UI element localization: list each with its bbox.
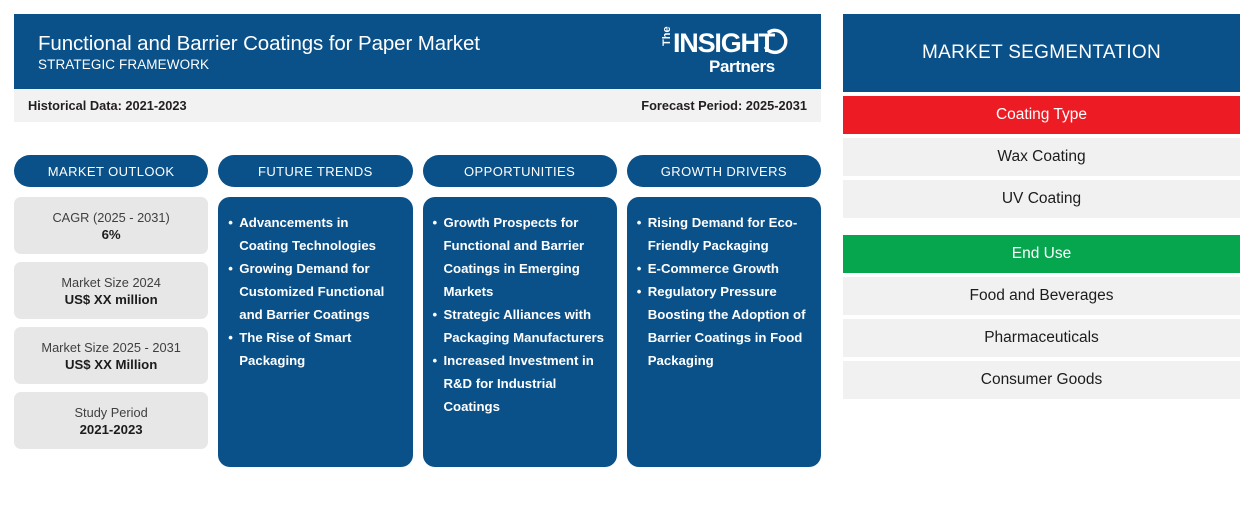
column-heading-market-outlook[interactable]: MARKET OUTLOOK <box>14 155 208 187</box>
list-item: Advancements in Coating Technologies <box>228 211 400 257</box>
bullet-list: Rising Demand for Eco-Friendly Packaging… <box>637 211 809 372</box>
column-growth-drivers: GROWTH DRIVERS Rising Demand for Eco-Fri… <box>627 155 821 485</box>
list-item: The Rise of Smart Packaging <box>228 326 400 372</box>
metric-value: 6% <box>102 227 121 242</box>
column-opportunities: OPPORTUNITIES Growth Prospects for Funct… <box>423 155 617 485</box>
segmentation-group-coating-type: Coating Type Wax Coating UV Coating <box>843 96 1240 218</box>
metric-label: CAGR (2025 - 2031) <box>52 210 169 225</box>
logo-partners-text: Partners <box>709 57 775 76</box>
infographic-canvas: Functional and Barrier Coatings for Pape… <box>0 0 1254 530</box>
list-item: E-Commerce Growth <box>637 257 809 280</box>
segmentation-title-end-use[interactable]: End Use <box>843 235 1240 273</box>
metric-stack: CAGR (2025 - 2031) 6% Market Size 2024 U… <box>14 197 208 449</box>
column-heading-growth-drivers[interactable]: GROWTH DRIVERS <box>627 155 821 187</box>
column-heading-opportunities[interactable]: OPPORTUNITIES <box>423 155 617 187</box>
metric-card-market-size-forecast: Market Size 2025 - 2031 US$ XX Million <box>14 327 208 384</box>
list-item: Increased Investment in R&D for Industri… <box>433 349 605 418</box>
header-titles: Functional and Barrier Coatings for Pape… <box>38 31 480 73</box>
bullet-list: Advancements in Coating Technologies Gro… <box>228 211 400 372</box>
column-future-trends: FUTURE TRENDS Advancements in Coating Te… <box>218 155 412 485</box>
list-item: Rising Demand for Eco-Friendly Packaging <box>637 211 809 257</box>
metric-label: Market Size 2025 - 2031 <box>41 340 180 355</box>
insight-partners-logo: The INSIGHT Partners <box>657 24 799 80</box>
bullet-list: Growth Prospects for Functional and Barr… <box>433 211 605 418</box>
logo-the-text: The <box>661 26 673 46</box>
forecast-period-label: Forecast Period: 2025-2031 <box>641 98 807 113</box>
metric-card-study-period: Study Period 2021-2023 <box>14 392 208 449</box>
bullet-card-growth-drivers: Rising Demand for Eco-Friendly Packaging… <box>627 197 821 467</box>
page-title: Functional and Barrier Coatings for Pape… <box>38 31 480 56</box>
historical-data-label: Historical Data: 2021-2023 <box>28 98 187 113</box>
list-item: Strategic Alliances with Packaging Manuf… <box>433 303 605 349</box>
bullet-card-future-trends: Advancements in Coating Technologies Gro… <box>218 197 412 467</box>
segmentation-header: MARKET SEGMENTATION <box>843 14 1240 92</box>
list-item: Regulatory Pressure Boosting the Adoptio… <box>637 280 809 372</box>
metric-label: Study Period <box>74 405 147 420</box>
metric-value: US$ XX million <box>65 292 158 307</box>
list-item: Growth Prospects for Functional and Barr… <box>433 211 605 303</box>
strategic-framework-panel: Functional and Barrier Coatings for Pape… <box>14 14 821 122</box>
bullet-card-opportunities: Growth Prospects for Functional and Barr… <box>423 197 617 467</box>
market-segmentation-panel: MARKET SEGMENTATION Coating Type Wax Coa… <box>843 14 1240 399</box>
list-item: Growing Demand for Customized Functional… <box>228 257 400 326</box>
segmentation-title-coating-type[interactable]: Coating Type <box>843 96 1240 134</box>
segmentation-item[interactable]: UV Coating <box>843 180 1240 218</box>
logo-insight-text: INSIGHT <box>673 28 776 58</box>
metric-card-market-size-2024: Market Size 2024 US$ XX million <box>14 262 208 319</box>
page-subtitle: STRATEGIC FRAMEWORK <box>38 56 480 73</box>
segmentation-item[interactable]: Wax Coating <box>843 138 1240 176</box>
segmentation-item[interactable]: Food and Beverages <box>843 277 1240 315</box>
column-heading-future-trends[interactable]: FUTURE TRENDS <box>218 155 412 187</box>
metric-value: US$ XX Million <box>65 357 157 372</box>
metric-value: 2021-2023 <box>80 422 143 437</box>
column-market-outlook: MARKET OUTLOOK CAGR (2025 - 2031) 6% Mar… <box>14 155 208 485</box>
header-band: Functional and Barrier Coatings for Pape… <box>14 14 821 89</box>
segmentation-item[interactable]: Pharmaceuticals <box>843 319 1240 357</box>
period-strip: Historical Data: 2021-2023 Forecast Peri… <box>14 89 821 122</box>
logo-artwork: The INSIGHT Partners <box>657 24 799 80</box>
metric-label: Market Size 2024 <box>61 275 161 290</box>
segmentation-item[interactable]: Consumer Goods <box>843 361 1240 399</box>
metric-card-cagr: CAGR (2025 - 2031) 6% <box>14 197 208 254</box>
segmentation-group-end-use: End Use Food and Beverages Pharmaceutica… <box>843 235 1240 399</box>
framework-columns: MARKET OUTLOOK CAGR (2025 - 2031) 6% Mar… <box>14 155 821 485</box>
